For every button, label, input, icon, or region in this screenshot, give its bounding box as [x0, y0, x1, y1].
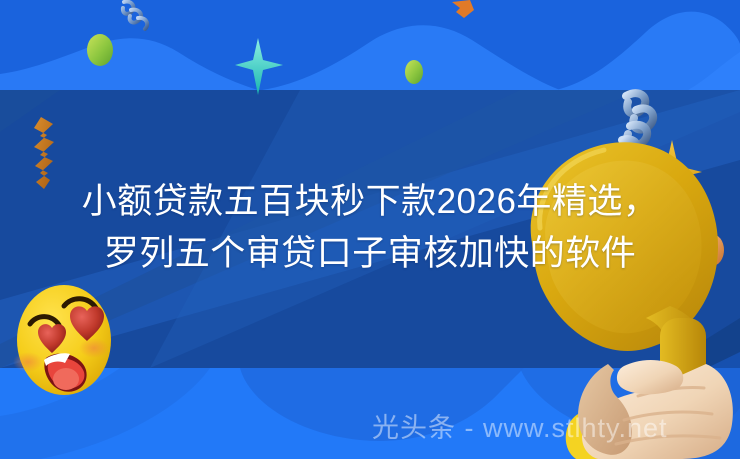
heart-eyes-emoji	[8, 278, 120, 398]
green-sphere	[87, 34, 113, 66]
watermark: 光头条 - www.stlhty.net	[372, 412, 668, 444]
green-sphere-right	[405, 60, 423, 84]
megaphone-in-hand	[520, 128, 740, 459]
promo-poster: 小额贷款五百块秒下款2026年精选， 罗列五个审贷口子审核加快的软件 光头条 -…	[0, 0, 740, 459]
